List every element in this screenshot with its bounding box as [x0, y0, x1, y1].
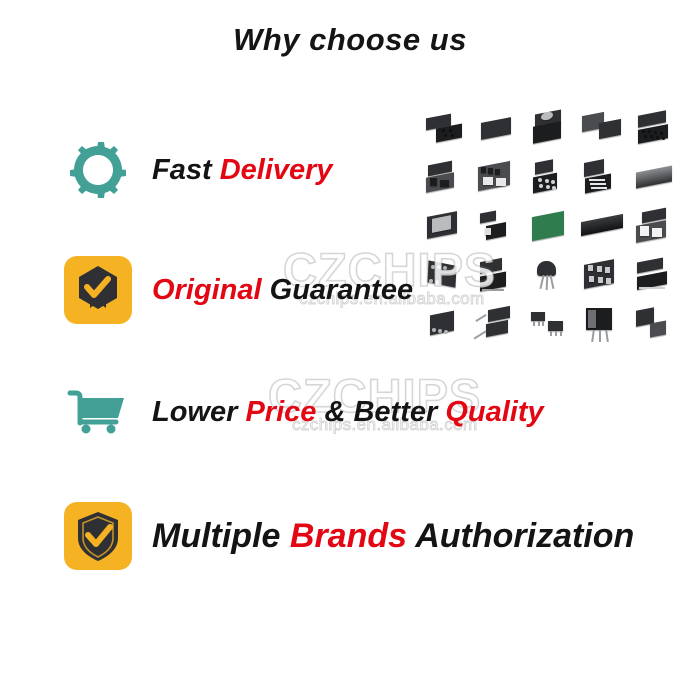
- feature-segment: Fast: [152, 154, 220, 186]
- chip-thumbnail: [527, 255, 579, 304]
- chip-thumbnail: [579, 157, 631, 206]
- chip-thumbnail: [579, 304, 631, 353]
- chip-thumbnail: [527, 157, 579, 206]
- promo-banner: Why choose us: [0, 0, 700, 700]
- feature-label: Fast Delivery: [152, 156, 333, 185]
- feature-row-multiple-brands: Multiple Brands Authorization: [64, 502, 634, 570]
- feature-segment-accent: Brands: [290, 517, 407, 555]
- chip-thumbnail: [527, 108, 579, 157]
- feature-row-fast-delivery: Fast Delivery: [64, 136, 333, 204]
- feature-segment: Guarantee: [270, 274, 413, 306]
- feature-segment: Authorization: [407, 517, 634, 555]
- chip-collage-image: [422, 108, 684, 353]
- chip-thumbnail: [632, 206, 684, 255]
- chip-thumbnail: [579, 108, 631, 157]
- chip-thumbnail: [474, 157, 526, 206]
- feature-segment: Lower: [152, 396, 245, 428]
- feature-segment-accent: Delivery: [220, 154, 333, 186]
- chip-thumbnail: [422, 255, 474, 304]
- feature-row-lower-price: Lower Price & Better Quality: [64, 378, 544, 446]
- feature-segment: & Better: [316, 396, 445, 428]
- chip-thumbnail: [422, 206, 474, 255]
- chip-thumbnail: [474, 255, 526, 304]
- chip-thumbnail: [422, 108, 474, 157]
- chip-thumbnail: [579, 206, 631, 255]
- feature-label: Multiple Brands Authorization: [152, 519, 634, 553]
- chip-thumbnail: [632, 108, 684, 157]
- feature-label: Lower Price & Better Quality: [152, 398, 544, 427]
- feature-segment: Multiple: [152, 517, 290, 555]
- feature-segment-accent: Price: [245, 396, 316, 428]
- shield-check-icon: [64, 502, 132, 570]
- badge-check-icon: [64, 256, 132, 324]
- chip-thumbnail: [527, 206, 579, 255]
- gear-icon: [64, 136, 132, 204]
- feature-segment-accent: Quality: [445, 396, 543, 428]
- chip-thumbnail: [474, 108, 526, 157]
- chip-thumbnail: [527, 304, 579, 353]
- chip-thumbnail: [632, 255, 684, 304]
- page-title: Why choose us: [0, 22, 700, 58]
- chip-thumbnail: [632, 157, 684, 206]
- chip-thumbnail: [579, 255, 631, 304]
- chip-thumbnail: [474, 304, 526, 353]
- chip-thumbnail: [632, 304, 684, 353]
- shopping-cart-icon: [64, 378, 132, 446]
- feature-segment-accent: Original: [152, 274, 270, 306]
- chip-thumbnail: [474, 206, 526, 255]
- feature-row-original-guarantee: Original Guarantee: [64, 256, 413, 324]
- feature-label: Original Guarantee: [152, 276, 413, 305]
- chip-thumbnail: [422, 304, 474, 353]
- chip-thumbnail: [422, 157, 474, 206]
